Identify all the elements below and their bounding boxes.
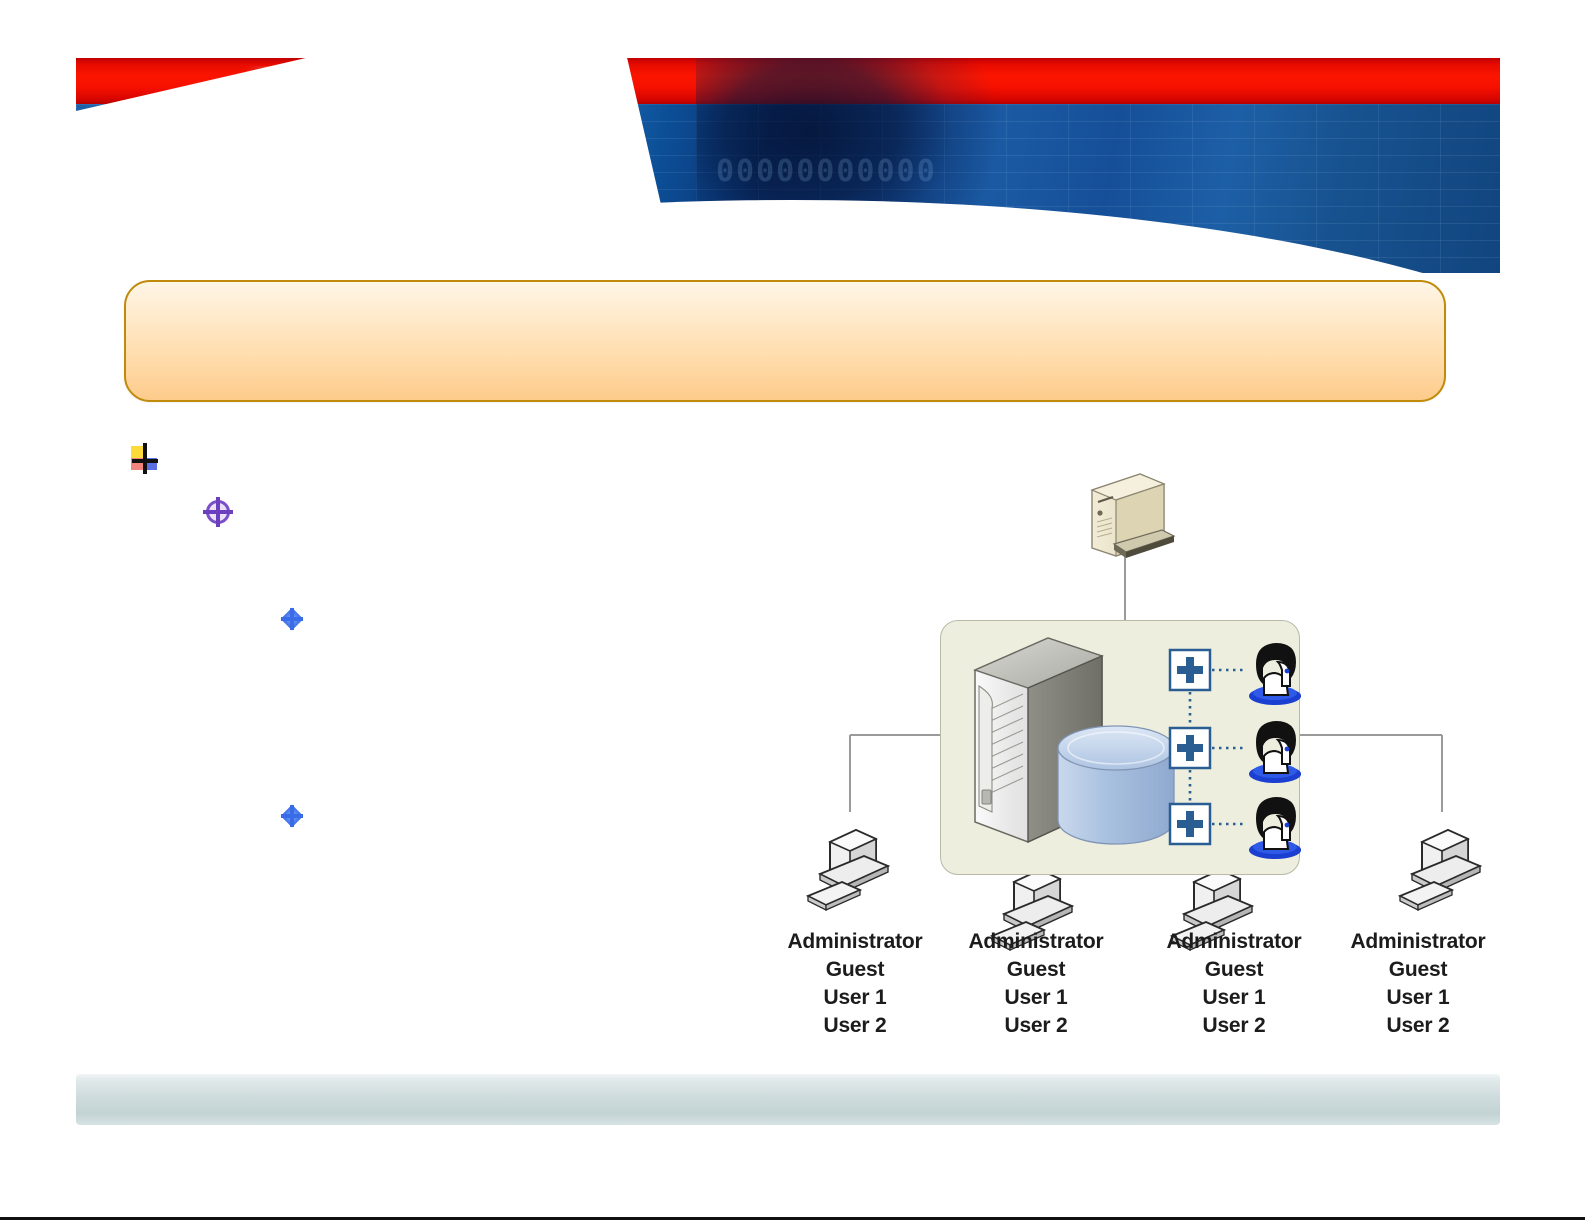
tower-server-icon xyxy=(1092,474,1174,558)
account-name: Administrator xyxy=(1318,928,1518,956)
workstation-label-1: Administrator Guest User 1 User 2 xyxy=(755,928,955,1040)
account-name: User 2 xyxy=(755,1012,955,1040)
blue-diamond-icon xyxy=(281,608,303,630)
account-name: Guest xyxy=(1134,956,1334,984)
header-banner: 1010 1010 1001 10111 00000000000 xyxy=(76,58,1500,273)
account-name: Guest xyxy=(936,956,1136,984)
workstation-label-2: Administrator Guest User 1 User 2 xyxy=(936,928,1136,1040)
account-name: Guest xyxy=(1318,956,1518,984)
account-name: User 2 xyxy=(1318,1012,1518,1040)
account-name: Administrator xyxy=(936,928,1136,956)
account-name: User 1 xyxy=(755,984,955,1012)
account-name: Administrator xyxy=(1134,928,1334,956)
account-name: User 1 xyxy=(1134,984,1334,1012)
account-name: User 1 xyxy=(936,984,1136,1012)
account-name: User 1 xyxy=(1318,984,1518,1012)
footer-bar xyxy=(76,1073,1500,1125)
slide-title-text xyxy=(126,282,1444,339)
binary-text-5: 00000000000 xyxy=(716,154,937,189)
workstation-label-3: Administrator Guest User 1 User 2 xyxy=(1134,928,1334,1040)
slide-title-box xyxy=(124,280,1446,402)
account-name: Guest xyxy=(755,956,955,984)
account-name: Administrator xyxy=(755,928,955,956)
network-diagram: Administrator Guest User 1 User 2 Admini… xyxy=(770,460,1530,1030)
account-name: User 2 xyxy=(936,1012,1136,1040)
purple-crosshair-icon xyxy=(203,497,233,527)
workstation-label-4: Administrator Guest User 1 User 2 xyxy=(1318,928,1518,1040)
account-name: User 2 xyxy=(1134,1012,1334,1040)
bottom-rule xyxy=(0,1217,1585,1220)
slide-canvas: 1010 1010 1001 10111 00000000000 xyxy=(0,0,1585,1225)
quad-cross-icon xyxy=(130,446,158,472)
server-group-box xyxy=(940,620,1300,875)
blue-diamond-icon xyxy=(281,805,303,827)
footer-text xyxy=(76,1073,1500,1102)
